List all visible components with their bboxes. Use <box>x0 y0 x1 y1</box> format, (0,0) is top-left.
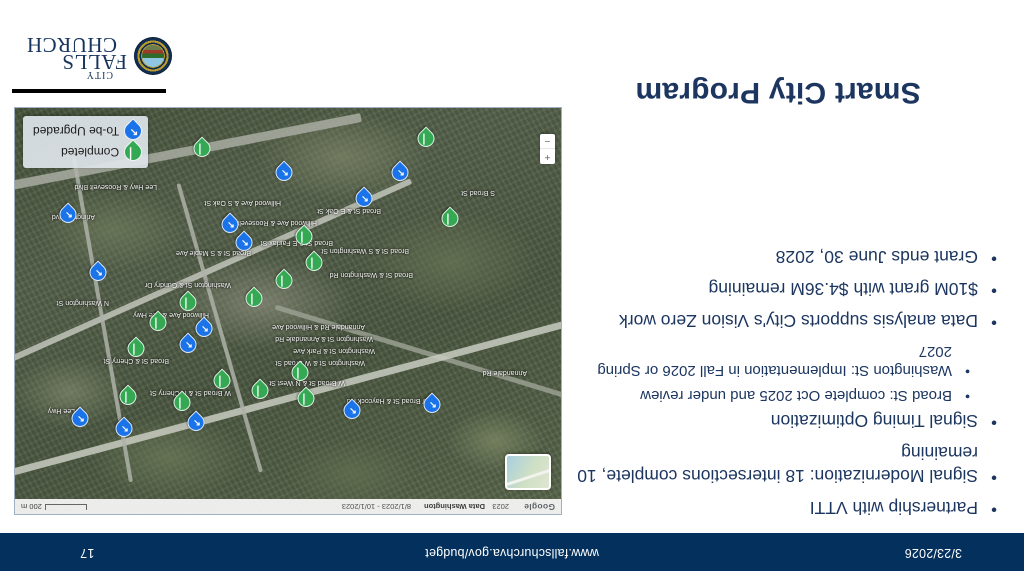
scale-bar-label: 200 m <box>21 500 42 515</box>
map-pin-to-be-upgraded[interactable]: ↖ <box>74 408 89 427</box>
map-street-label: Lee Hwy & Roosevelt Blvd <box>75 183 157 190</box>
map-pin-completed[interactable]: ▕ <box>444 208 459 227</box>
city-seal-icon <box>134 38 172 76</box>
sub-bullet-text: Broad St: complete Oct 2025 and under re… <box>640 387 952 404</box>
map-pin-to-be-upgraded[interactable]: ↖ <box>346 400 361 419</box>
google-logo[interactable]: Google <box>524 499 555 514</box>
map-pin-completed[interactable]: ▕ <box>248 288 263 307</box>
map-pin-completed[interactable]: ▕ <box>122 386 137 405</box>
pin-glyph: ↖ <box>190 416 205 430</box>
pin-glyph: ▕ <box>444 212 459 226</box>
map-pin-to-be-upgraded[interactable]: ↖ <box>92 262 107 281</box>
basemap-toggle-thumbnail[interactable] <box>505 454 551 490</box>
pin-glyph: ↖ <box>278 166 293 180</box>
map-attribution-place: Data Washington <box>424 499 485 514</box>
map-street-label: Hillwood Ave & Lee Hwy <box>133 311 209 318</box>
map-pin-completed[interactable]: ▕ <box>298 226 313 245</box>
pin-glyph: ↖ <box>346 404 361 418</box>
map-street-label: Lee Hwy <box>48 407 75 414</box>
pin-glyph: ↖ <box>126 125 142 140</box>
map-pin-to-be-upgraded[interactable]: ↖ <box>190 412 205 431</box>
sub-list-item: Washington St: Implementation in Fall 20… <box>574 341 978 380</box>
pin-glyph: ↖ <box>238 236 253 250</box>
pin-glyph: ↖ <box>118 422 133 436</box>
map-pin-to-be-upgraded[interactable]: ↖ <box>394 162 409 181</box>
map-attribution-bar: Google 2023 Data Washington 8/1/2023 - 1… <box>15 499 561 514</box>
map-pin-to-be-upgraded[interactable]: ↖ <box>278 162 293 181</box>
map-street-label: Washington St & Park Ave <box>293 347 375 354</box>
map-attribution-year: 2023 <box>492 499 509 514</box>
traffic-signal-upgrade-icon: ↖ <box>126 123 142 141</box>
map-street-label: Hillwood Ave & S Oak St <box>204 199 281 206</box>
slide-header-band: 3/23/2026 www.fallschurchva.gov/budget 1… <box>0 533 1024 571</box>
legend-row-completed: ▕ Completed <box>33 142 142 163</box>
pin-glyph: ↖ <box>224 218 239 232</box>
sub-bullet-text: Washington St: Implementation in Fall 20… <box>597 343 952 380</box>
map-pin-to-be-upgraded[interactable]: ↖ <box>224 214 239 233</box>
bullet-list-container: Partnership with VTTI Signal Modernizati… <box>574 236 1004 519</box>
traffic-signal-completed-icon: ▕ <box>126 144 142 162</box>
map-pin-to-be-upgraded[interactable]: ↖ <box>182 334 197 353</box>
list-item: Grant ends June 30, 2028 <box>574 245 1004 268</box>
header-page-number: 17 <box>80 546 94 560</box>
zoom-out-button[interactable]: − <box>540 133 555 149</box>
map-zoom-control[interactable]: + − <box>540 134 555 164</box>
pin-glyph: ▕ <box>298 230 313 244</box>
pin-glyph: ▕ <box>308 256 323 270</box>
sub-list-item: Broad St: complete Oct 2025 and under re… <box>574 385 978 405</box>
map-road-broad-st <box>14 311 562 483</box>
map-street-label: Washington St & W Broad St <box>275 359 365 366</box>
map-street-label: Washington St & Annandale Rd <box>275 335 373 342</box>
map-pin-completed[interactable]: ▕ <box>308 252 323 271</box>
pin-glyph: ▕ <box>196 142 211 156</box>
list-item: Signal Modernization: 18 intersections c… <box>574 441 1004 487</box>
pin-glyph: ▕ <box>300 392 315 406</box>
map-scale-bar: 200 m <box>21 501 87 513</box>
scale-bar-line <box>45 504 87 510</box>
logo-wordmark: CITY FALLS CHURCH <box>26 34 127 79</box>
pin-glyph: ↖ <box>74 412 89 426</box>
pin-glyph: ▕ <box>420 132 435 146</box>
list-item: Signal Timing Optimization Broad St: com… <box>574 341 1004 432</box>
sub-bullet-list: Broad St: complete Oct 2025 and under re… <box>574 341 978 405</box>
pin-glyph: ↖ <box>92 266 107 280</box>
presentation-slide: 3/23/2026 www.fallschurchva.gov/budget 1… <box>0 0 1024 571</box>
pin-glyph: ▕ <box>278 274 293 288</box>
city-logo-block: CITY FALLS CHURCH <box>12 23 172 93</box>
pin-glyph: ▕ <box>216 374 231 388</box>
map-pin-completed[interactable]: ▕ <box>294 362 309 381</box>
pin-glyph: ↖ <box>198 322 213 336</box>
pin-glyph: ↖ <box>358 192 373 206</box>
pin-glyph: ▕ <box>130 342 145 356</box>
map-pin-completed[interactable]: ▕ <box>130 338 145 357</box>
pin-glyph: ↖ <box>394 166 409 180</box>
map-street-label: Broad St & Cherry St <box>104 357 169 364</box>
map-pin-completed[interactable]: ▕ <box>278 270 293 289</box>
bullet-list: Partnership with VTTI Signal Modernizati… <box>574 245 1004 519</box>
pin-glyph: ▕ <box>126 146 142 161</box>
map-pin-to-be-upgraded[interactable]: ↖ <box>426 394 441 413</box>
map-pin-completed[interactable]: ▕ <box>420 128 435 147</box>
map-legend: ▕ Completed ↖ To-be Upgraded <box>23 116 148 168</box>
list-item: $10M grant with $4.36M remaining <box>574 277 1004 300</box>
map-pin-to-be-upgraded[interactable]: ↖ <box>118 418 133 437</box>
pin-glyph: ↖ <box>426 398 441 412</box>
map-pin-completed[interactable]: ▕ <box>216 370 231 389</box>
bullet-text: Signal Timing Optimization <box>574 409 978 432</box>
bullet-text: Grant ends June 30, 2028 <box>574 245 978 268</box>
pin-glyph: ▕ <box>176 396 191 410</box>
map-pin-to-be-upgraded[interactable]: ↖ <box>358 188 373 207</box>
map-pin-completed[interactable]: ▕ <box>176 392 191 411</box>
header-website[interactable]: www.fallschurchva.gov/budget <box>0 546 1024 560</box>
list-item: Data analysis supports City's Vision Zer… <box>574 309 1004 332</box>
signal-location-map[interactable]: W Broad St & Haycock RdW Broad St & N We… <box>14 107 562 515</box>
legend-row-upgrade: ↖ To-be Upgraded <box>33 121 142 142</box>
map-street-label: S Broad St <box>461 189 495 196</box>
map-pin-completed[interactable]: ▕ <box>300 388 315 407</box>
map-pin-completed[interactable]: ▕ <box>182 292 197 311</box>
pin-glyph: ▕ <box>294 366 309 380</box>
legend-label-to-be-upgraded: To-be Upgraded <box>33 125 119 139</box>
pin-glyph: ▕ <box>248 292 263 306</box>
map-pin-to-be-upgraded[interactable]: ↖ <box>198 318 213 337</box>
map-pin-completed[interactable]: ▕ <box>196 138 211 157</box>
page-title: Smart City Program <box>568 76 988 109</box>
bullet-text: Signal Modernization: 18 intersections c… <box>574 441 978 487</box>
bullet-text: $10M grant with $4.36M remaining <box>574 277 978 300</box>
zoom-in-button[interactable]: + <box>540 149 555 164</box>
bullet-text: Data analysis supports City's Vision Zer… <box>574 309 978 332</box>
map-pin-completed[interactable]: ▕ <box>254 380 269 399</box>
logo-row: CITY FALLS CHURCH <box>26 34 172 79</box>
logo-divider-rule <box>12 89 166 93</box>
map-street-label: Broad St & S Washington St <box>321 247 409 254</box>
pin-glyph: ▕ <box>182 296 197 310</box>
bullet-text: Partnership with VTTI <box>574 496 978 519</box>
map-satellite-imagery[interactable]: W Broad St & Haycock RdW Broad St & N We… <box>15 108 561 514</box>
map-pin-to-be-upgraded[interactable]: ↖ <box>62 204 77 223</box>
pin-glyph: ▕ <box>254 384 269 398</box>
pin-glyph: ▕ <box>122 390 137 404</box>
map-pin-completed[interactable]: ▕ <box>152 312 167 331</box>
pin-glyph: ↖ <box>62 208 77 222</box>
logo-word-church: CHURCH <box>26 34 117 55</box>
list-item: Partnership with VTTI <box>574 496 1004 519</box>
map-imagery-date-range: 8/1/2023 - 10/1/2023 <box>342 499 411 514</box>
slide-content-rotated: 3/23/2026 www.fallschurchva.gov/budget 1… <box>0 0 1024 571</box>
map-pin-to-be-upgraded[interactable]: ↖ <box>238 232 253 251</box>
map-street-label: Broad St & Washington Rd <box>330 271 413 278</box>
pin-glyph: ▕ <box>152 316 167 330</box>
pin-glyph: ↖ <box>182 338 197 352</box>
legend-label-completed: Completed <box>61 146 119 160</box>
map-street-label: W Broad St & N Cherry St <box>150 389 231 396</box>
